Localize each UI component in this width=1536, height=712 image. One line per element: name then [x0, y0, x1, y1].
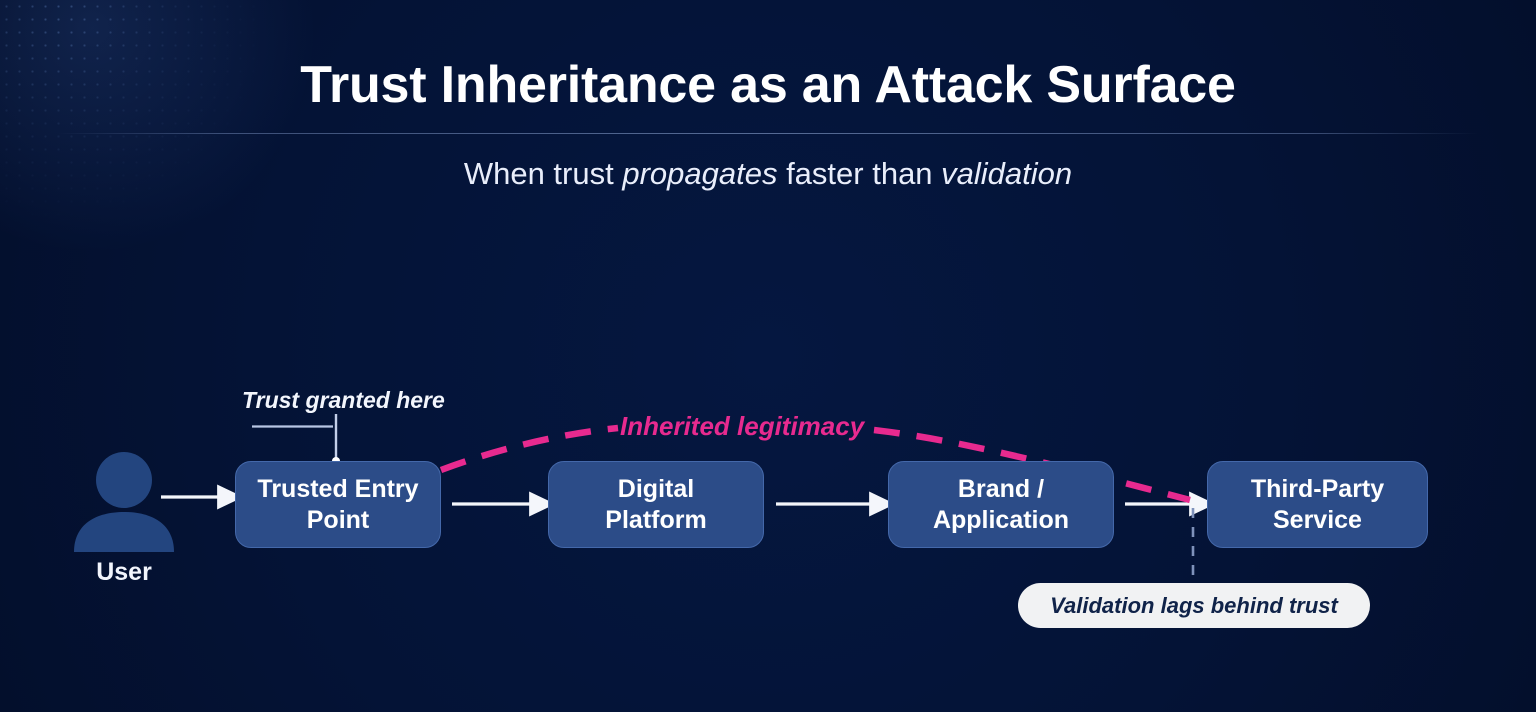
- annotation-trust-granted-here: Trust granted here: [242, 387, 445, 414]
- node-brand-application-label: Brand / Application: [933, 474, 1069, 535]
- slide-canvas: Trust Inheritance as an Attack Surface W…: [0, 0, 1536, 712]
- node-brand-application[interactable]: Brand / Application: [888, 461, 1114, 548]
- page-title: Trust Inheritance as an Attack Surface: [0, 57, 1536, 114]
- annotation-validation-lags-label: Validation lags behind trust: [1050, 593, 1338, 619]
- node-trusted-entry-point[interactable]: Trusted Entry Point: [235, 461, 441, 548]
- node-third-party-service[interactable]: Third-Party Service: [1207, 461, 1428, 548]
- node-digital-platform-label: Digital Platform: [605, 474, 706, 535]
- subtitle-prefix: When trust: [464, 156, 623, 191]
- subtitle-emphasis-validation: validation: [941, 156, 1072, 191]
- page-subtitle: When trust propagates faster than valida…: [0, 155, 1536, 194]
- user-label: User: [50, 558, 198, 587]
- header-divider: [58, 133, 1478, 134]
- node-trusted-entry-point-label: Trusted Entry Point: [257, 474, 418, 535]
- annotation-validation-lags-pill: Validation lags behind trust: [1018, 583, 1370, 628]
- subtitle-emphasis-propagates: propagates: [622, 156, 777, 191]
- subtitle-middle: faster than: [777, 156, 941, 191]
- node-third-party-service-label: Third-Party Service: [1251, 474, 1384, 535]
- node-digital-platform[interactable]: Digital Platform: [548, 461, 764, 548]
- user-icon: [70, 452, 178, 552]
- annotation-inherited-legitimacy: Inherited legitimacy: [620, 411, 864, 442]
